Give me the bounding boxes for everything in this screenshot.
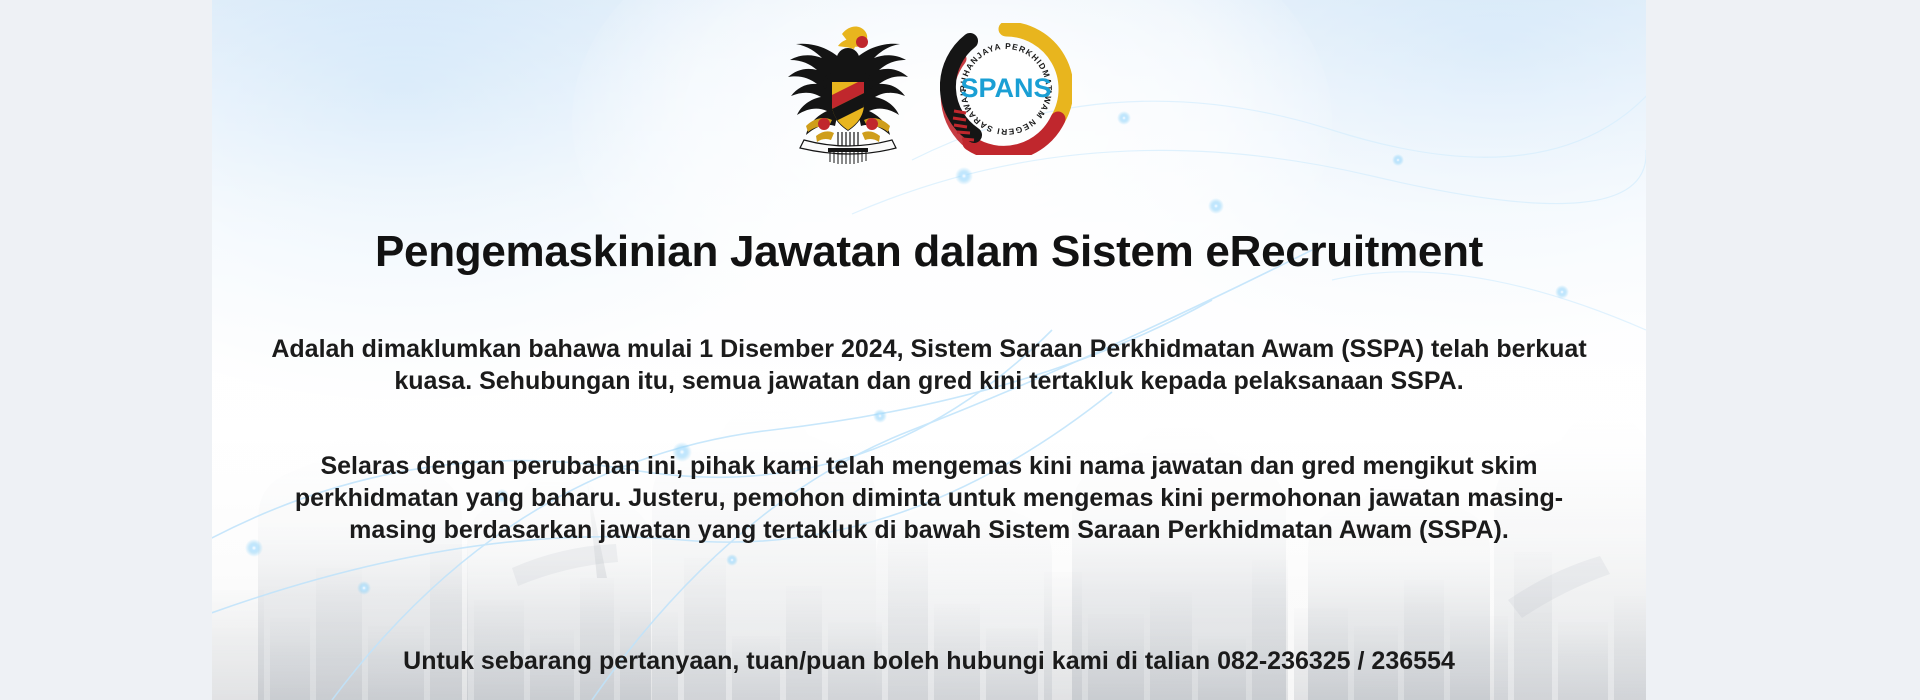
announcement-paragraph-1: Adalah dimaklumkan bahawa mulai 1 Disemb… [212, 333, 1646, 397]
logo-row: SURUHANJAYA PERKHIDMATAN AWAM NEGERI SAR… [212, 14, 1646, 164]
announcement-banner: SURUHANJAYA PERKHIDMATAN AWAM NEGERI SAR… [212, 0, 1646, 700]
contact-line: Untuk sebarang pertanyaan, tuan/puan bol… [212, 645, 1646, 677]
page-root: SURUHANJAYA PERKHIDMATAN AWAM NEGERI SAR… [0, 0, 1920, 700]
sarawak-crest-icon [786, 14, 910, 164]
banner-content: SURUHANJAYA PERKHIDMATAN AWAM NEGERI SAR… [212, 0, 1646, 700]
spans-logo-icon: SURUHANJAYA PERKHIDMATAN AWAM NEGERI SAR… [940, 23, 1072, 155]
spans-acronym-text: SPANS [960, 73, 1051, 103]
page-title: Pengemaskinian Jawatan dalam Sistem eRec… [212, 228, 1646, 276]
announcement-paragraph-2: Selaras dengan perubahan ini, pihak kami… [212, 450, 1646, 546]
